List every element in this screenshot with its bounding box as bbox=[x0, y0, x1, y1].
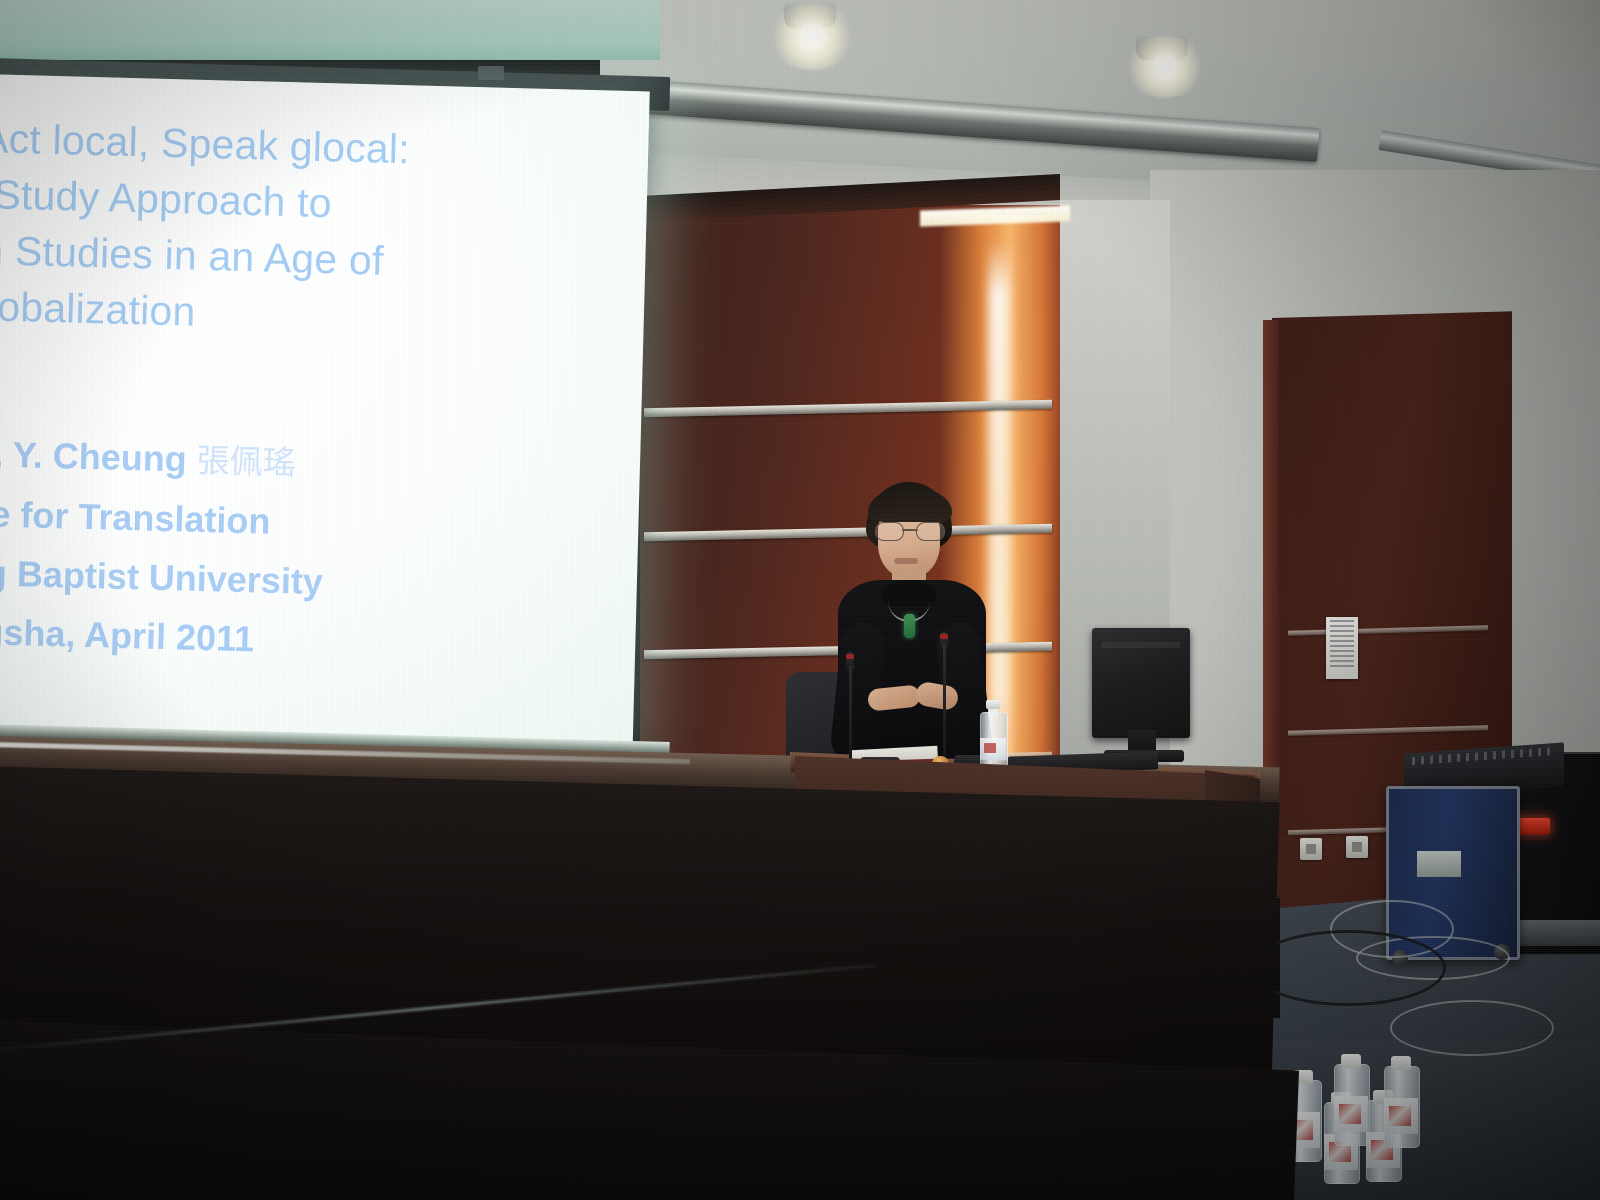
lecture-hall-photo: , Act local, Speak glocal: e Study Appro… bbox=[0, 0, 1600, 1200]
floor-bottle-5 bbox=[1384, 1050, 1418, 1148]
podium-water-bottle bbox=[980, 700, 1006, 772]
projection-screen: , Act local, Speak glocal: e Study Appro… bbox=[0, 74, 650, 751]
floor-bottle-3 bbox=[1334, 1048, 1368, 1146]
ceiling-spotlight-left bbox=[768, 4, 856, 70]
wall-notice-paper bbox=[1326, 617, 1358, 679]
speaker-brow-right bbox=[918, 518, 940, 521]
wall-outlet-2[interactable] bbox=[1346, 836, 1368, 858]
ceiling-mint-tint bbox=[0, 0, 660, 60]
cable-coil-3 bbox=[1250, 930, 1446, 1006]
speaker-mouth bbox=[894, 558, 918, 564]
speaker-brow-left bbox=[880, 518, 902, 521]
jade-pendant bbox=[904, 614, 915, 638]
eyeglasses-icon bbox=[875, 522, 945, 539]
slide-byline: a P. Y. Cheung 張佩瑤 ntre for Translation … bbox=[0, 423, 650, 680]
floor-water-bottles bbox=[1286, 1048, 1436, 1200]
slide-author: a P. Y. Cheung bbox=[0, 432, 187, 479]
wall-outlet-1[interactable] bbox=[1300, 838, 1322, 860]
microphone-right bbox=[934, 632, 974, 762]
podium-monitor bbox=[1092, 628, 1190, 738]
ceiling-spotlight-right bbox=[1124, 36, 1206, 98]
microphone-left bbox=[846, 652, 886, 764]
slide-author-cjk: 張佩瑤 bbox=[196, 442, 296, 482]
road-case-label bbox=[1417, 851, 1461, 877]
projection-screen-bracket bbox=[478, 66, 504, 80]
slide-title: , Act local, Speak glocal: e Study Appro… bbox=[0, 110, 650, 352]
speaker-hair-fringe bbox=[868, 488, 952, 522]
